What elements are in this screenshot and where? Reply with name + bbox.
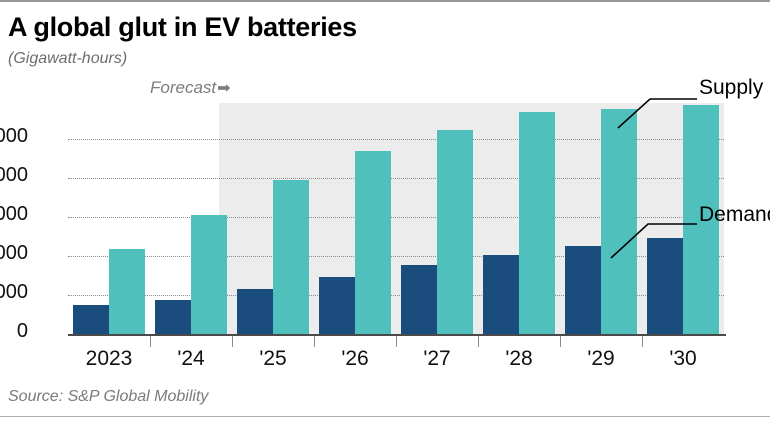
- bar-demand-28: [483, 255, 519, 334]
- x-axis-label-29: '29: [560, 347, 642, 371]
- y-axis-tick-label: 2,000: [0, 242, 28, 265]
- bar-demand-25: [237, 289, 273, 334]
- forecast-annotation: Forecast➡: [150, 78, 231, 98]
- chart-subtitle: (Gigawatt-hours): [8, 50, 127, 68]
- x-axis-tick: [314, 336, 315, 347]
- bar-supply-27: [437, 130, 473, 334]
- y-axis-tick-label: 3,000: [0, 203, 28, 226]
- x-axis-tick: [232, 336, 233, 347]
- y-axis-tick-label: 1,000: [0, 281, 28, 304]
- bar-supply-29: [601, 109, 637, 334]
- bar-demand-26: [319, 277, 355, 334]
- forecast-annotation-text: Forecast: [150, 78, 216, 97]
- footer-divider: [0, 416, 770, 417]
- x-axis-label-30: '30: [642, 347, 724, 371]
- x-axis-label-28: '28: [478, 347, 560, 371]
- x-axis-tick: [478, 336, 479, 347]
- source-note: Source: S&P Global Mobility: [8, 388, 208, 406]
- x-axis-label-24: '24: [150, 347, 232, 371]
- bar-supply-2023: [109, 249, 145, 334]
- page-title: A global glut in EV batteries: [8, 12, 357, 43]
- bar-demand-30: [647, 238, 683, 334]
- x-axis-label-25: '25: [232, 347, 314, 371]
- x-axis-tick: [150, 336, 151, 347]
- chart-figure: A global glut in EV batteries (Gigawatt-…: [0, 0, 770, 421]
- bar-supply-24: [191, 215, 227, 334]
- bar-demand-2023: [73, 305, 109, 334]
- y-axis-tick-label: 0: [0, 320, 28, 343]
- bar-supply-25: [273, 180, 309, 334]
- bar-supply-30: [683, 105, 719, 334]
- forecast-arrow-icon: ➡: [217, 80, 230, 97]
- y-axis-tick-label: 5,000: [0, 125, 28, 148]
- bar-supply-26: [355, 151, 391, 334]
- x-axis-label-26: '26: [314, 347, 396, 371]
- x-axis-label-2023: 2023: [68, 347, 150, 371]
- x-axis-tick: [396, 336, 397, 347]
- x-axis-line: [68, 334, 726, 336]
- y-axis-tick-label: 4,000: [0, 164, 28, 187]
- x-axis-label-27: '27: [396, 347, 478, 371]
- bar-demand-29: [565, 246, 601, 334]
- bar-demand-24: [155, 300, 191, 334]
- x-axis-tick: [560, 336, 561, 347]
- x-axis-tick: [642, 336, 643, 347]
- bar-demand-27: [401, 265, 437, 334]
- bar-supply-28: [519, 112, 555, 334]
